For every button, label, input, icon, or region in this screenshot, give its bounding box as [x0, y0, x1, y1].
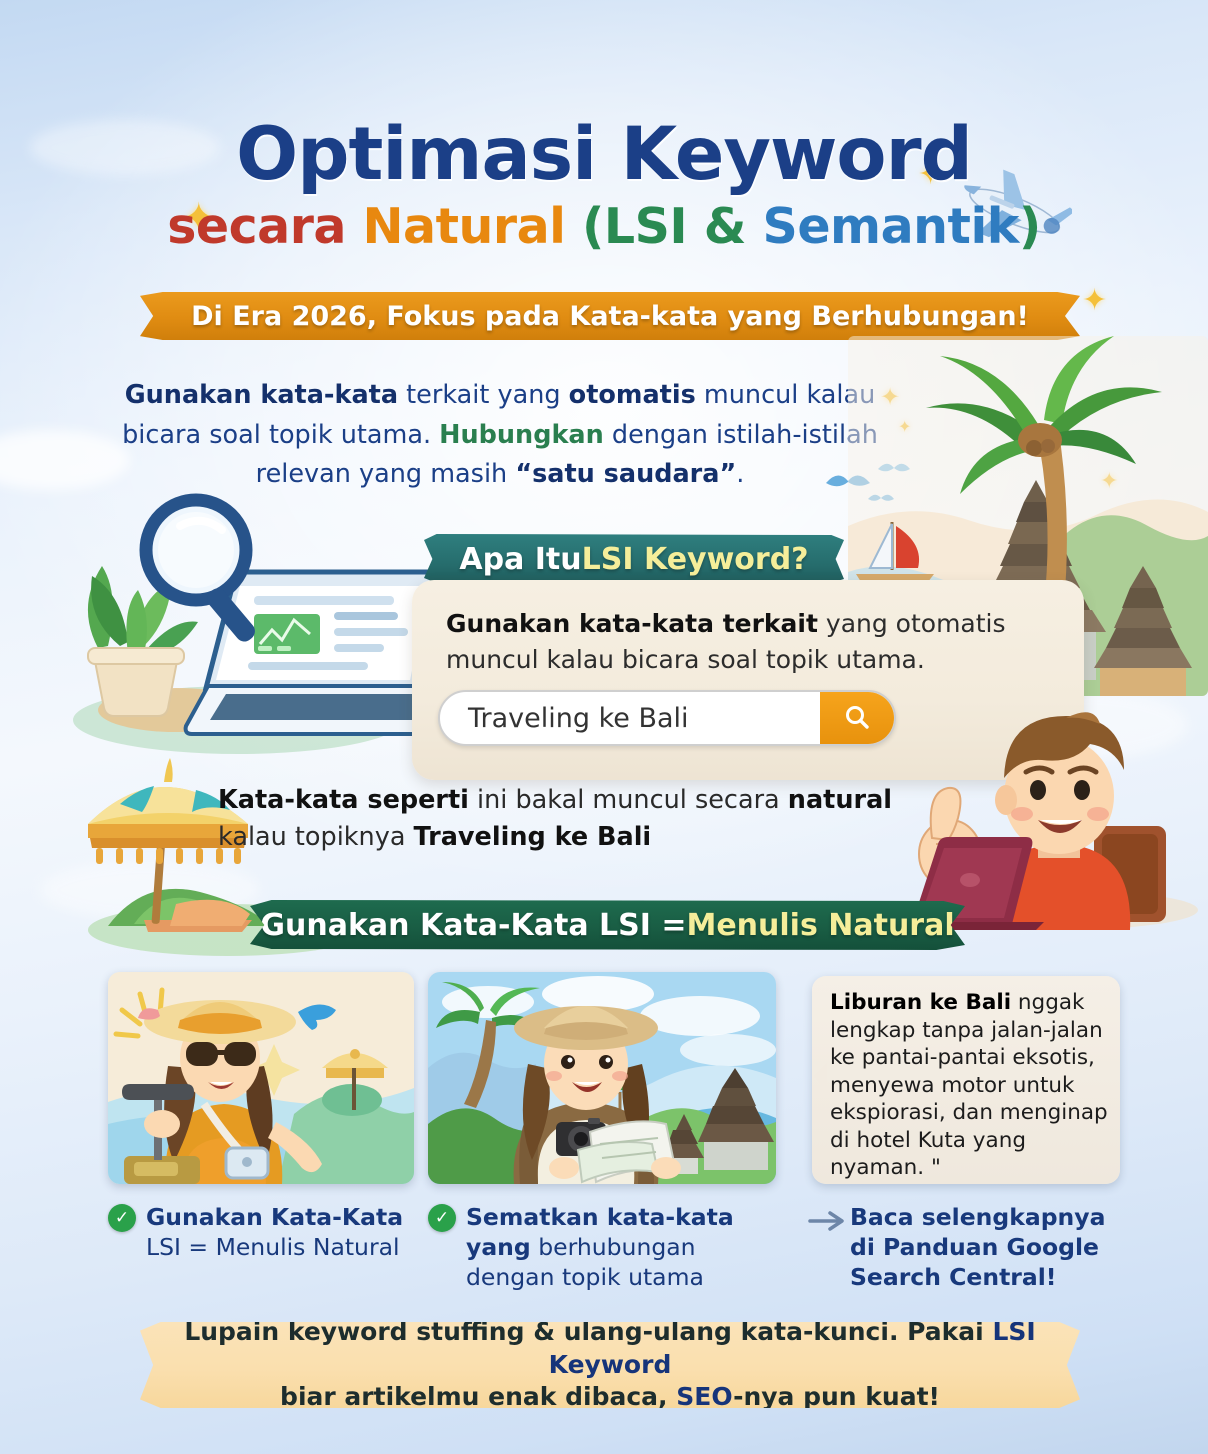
- footer-line1-a: Lupain keyword stuffing & ulang-ulang ka…: [184, 1317, 992, 1346]
- title-semantik: Semantik: [763, 198, 1019, 255]
- title-line1: Optimasi Keyword: [0, 118, 1208, 192]
- title-amp: &: [704, 198, 746, 255]
- woman-with-map-photo: [428, 972, 776, 1184]
- note-part-e: Traveling ke Bali: [414, 822, 652, 852]
- search-input[interactable]: Traveling ke Bali: [438, 690, 896, 746]
- caption-1-bold: Gunakan Kata-Kata: [146, 1203, 403, 1231]
- caption-3-text: Baca selengkapnya di Panduan Google Sear…: [850, 1202, 1122, 1292]
- lsi-question-banner: Apa Itu LSI Keyword?: [424, 534, 844, 584]
- sparkle-icon: ✦: [1082, 286, 1107, 316]
- note-part-a: Kata-kata seperti: [218, 785, 469, 815]
- green-banner-highlight: Menulis Natural: [686, 908, 954, 943]
- check-icon: ✓: [428, 1204, 456, 1232]
- note-part-d: kalau topiknya: [218, 822, 414, 852]
- footer-banner: Lupain keyword stuffing & ulang-ulang ka…: [140, 1322, 1080, 1408]
- quote-bold: Liburan ke Bali: [830, 990, 1011, 1015]
- quote-text: Liburan ke Bali nggak lengkap tanpa jala…: [812, 976, 1120, 1192]
- footer-line2-a: biar artikelmu enak dibaca,: [280, 1382, 676, 1411]
- caption-1-rest: LSI = Menulis Natural: [146, 1233, 400, 1261]
- era-banner-label: Di Era 2026, Fokus pada Kata-kata yang B…: [191, 301, 1029, 332]
- title-close-paren: ): [1019, 198, 1041, 255]
- quote-rest: nggak lengkap tanpa jalan-jalan ke panta…: [830, 990, 1108, 1180]
- intro-part-h: .: [736, 459, 744, 489]
- footer-line2-c: -nya pun kuat!: [733, 1382, 940, 1411]
- kata-kata-note: Kata-kata seperti ini bakal muncul secar…: [218, 782, 898, 856]
- lsi-banner-highlight: LSI Keyword?: [582, 542, 809, 577]
- intro-part-b: terkait yang: [398, 380, 569, 410]
- intro-part-e: Hubungkan: [439, 420, 604, 450]
- green-banner-prefix: Gunakan Kata-Kata LSI =: [260, 908, 686, 943]
- search-icon: [842, 703, 872, 733]
- intro-part-c: otomatis: [569, 380, 696, 410]
- title-line2: secara Natural (LSI & Semantik): [0, 198, 1208, 255]
- quote-bubble: Liburan ke Bali nggak lengkap tanpa jala…: [812, 976, 1120, 1184]
- title-natural: Natural: [363, 198, 566, 255]
- note-part-c: natural: [788, 785, 892, 815]
- cloud-decor: [0, 430, 130, 490]
- title-open-paren: (: [582, 198, 604, 255]
- title-lsi: LSI: [604, 198, 687, 255]
- woman-with-suitcase-photo: [108, 972, 414, 1184]
- caption-3: Baca selengkapnya di Panduan Google Sear…: [812, 1202, 1122, 1292]
- footer-line1: Lupain keyword stuffing & ulang-ulang ka…: [140, 1316, 1080, 1381]
- lsi-card-body-bold: Gunakan kata-kata terkait: [446, 609, 818, 638]
- footer-line2-b: SEO: [676, 1382, 733, 1411]
- check-icon: ✓: [108, 1204, 136, 1232]
- page-title: Optimasi Keyword secara Natural (LSI & S…: [0, 118, 1208, 255]
- magnifier-illustration: [146, 500, 259, 645]
- title-secara: secara: [167, 198, 346, 255]
- intro-paragraph: Gunakan kata-kata terkait yang otomatis …: [120, 376, 880, 495]
- laptop-illustration: [58, 488, 468, 758]
- era-banner: Di Era 2026, Fokus pada Kata-kata yang B…: [140, 292, 1080, 340]
- intro-part-a: Gunakan kata-kata: [125, 380, 398, 410]
- caption-2: ✓ Sematkan kata-kata yang berhubungan de…: [428, 1202, 768, 1292]
- man-with-laptop-illustration: [898, 648, 1198, 930]
- intro-part-g: “satu saudara”: [515, 459, 736, 489]
- arrow-right-icon: [808, 1208, 848, 1234]
- caption-1: ✓ Gunakan Kata-Kata LSI = Menulis Natura…: [108, 1202, 408, 1262]
- note-part-b: ini bakal muncul secara: [469, 785, 788, 815]
- caption-2-text: Sematkan kata-kata yang berhubungan deng…: [466, 1202, 768, 1292]
- search-button[interactable]: [820, 692, 894, 744]
- caption-3-bold: Baca selengkapnya di Panduan Google Sear…: [850, 1203, 1105, 1291]
- lsi-natural-banner: Gunakan Kata-Kata LSI = Menulis Natural: [250, 900, 965, 950]
- search-input-value[interactable]: Traveling ke Bali: [440, 703, 820, 734]
- caption-1-text: Gunakan Kata-Kata LSI = Menulis Natural: [146, 1202, 408, 1262]
- infographic-poster: ✦ ✦ ✦ ✦ ✦ ✦ Optimasi Keyword secara Natu…: [0, 0, 1208, 1454]
- footer-line2: biar artikelmu enak dibaca, SEO-nya pun …: [280, 1381, 940, 1414]
- lsi-banner-prefix: Apa Itu: [459, 542, 581, 577]
